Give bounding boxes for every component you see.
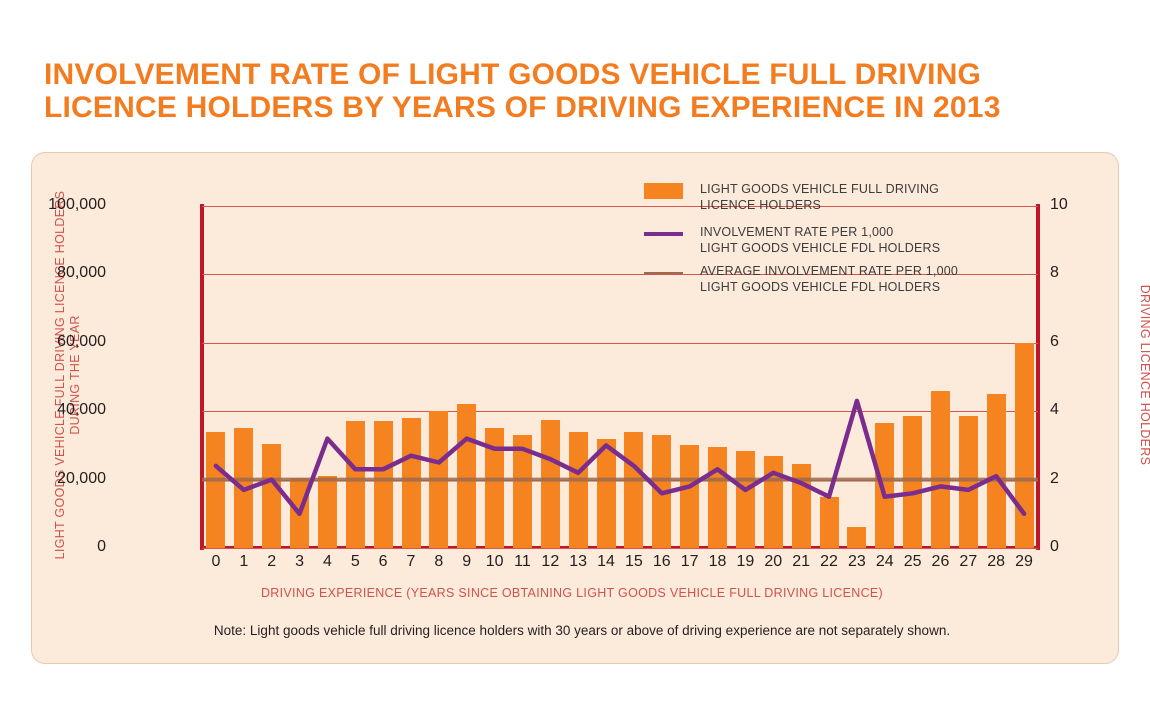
x-axis-tick-label: 18 bbox=[703, 553, 733, 571]
x-axis-tick-label: 28 bbox=[981, 553, 1011, 571]
chart-note: Note: Light goods vehicle full driving l… bbox=[92, 623, 1072, 638]
legend-item: INVOLVEMENT RATE PER 1,000LIGHT GOODS VE… bbox=[644, 224, 964, 256]
legend-swatch-bar-icon bbox=[644, 183, 683, 199]
x-axis-tick-label: 6 bbox=[368, 553, 398, 571]
x-axis-tick-label: 23 bbox=[842, 553, 872, 571]
x-axis-tick-label: 9 bbox=[452, 553, 482, 571]
page-title-line-2: LICENCE HOLDERS BY YEARS OF DRIVING EXPE… bbox=[44, 91, 1104, 124]
page-title-line-1: INVOLVEMENT RATE OF LIGHT GOODS VEHICLE … bbox=[44, 58, 1104, 91]
x-axis-tick-label: 1 bbox=[229, 553, 259, 571]
legend-label-line-2: LIGHT GOODS VEHICLE FDL HOLDERS bbox=[700, 240, 964, 256]
legend-item: AVERAGE INVOLVEMENT RATE PER 1,000LIGHT … bbox=[644, 263, 964, 295]
legend-swatch-average-icon bbox=[644, 272, 683, 274]
x-axis-tick-label: 4 bbox=[312, 553, 342, 571]
x-axis-tick-label: 17 bbox=[675, 553, 705, 571]
x-axis-tick-label: 8 bbox=[424, 553, 454, 571]
legend-label-line-1: AVERAGE INVOLVEMENT RATE PER 1,000 bbox=[700, 263, 964, 279]
x-axis-tick-label: 12 bbox=[535, 553, 565, 571]
x-axis-tick-label: 25 bbox=[898, 553, 928, 571]
x-axis-title: DRIVING EXPERIENCE (YEARS SINCE OBTAININ… bbox=[162, 586, 982, 601]
chart-panel: LIGHT GOODS VEHICLE FULL DRIVING LICENCE… bbox=[31, 152, 1119, 664]
x-axis-tick-label: 26 bbox=[925, 553, 955, 571]
y-axis-left-tick-label: 100,000 bbox=[48, 196, 106, 214]
y-axis-left-tick-label: 40,000 bbox=[57, 401, 106, 419]
y-axis-right-tick-label: 8 bbox=[1050, 264, 1059, 282]
x-axis-tick-label: 29 bbox=[1009, 553, 1039, 571]
legend-label: LIGHT GOODS VEHICLE FULL DRIVINGLICENCE … bbox=[700, 181, 964, 213]
x-axis-tick-label: 15 bbox=[619, 553, 649, 571]
x-axis-tick-label: 14 bbox=[591, 553, 621, 571]
y-axis-left-tick-label: 60,000 bbox=[57, 333, 106, 351]
y-axis-left-tick-label: 20,000 bbox=[57, 470, 106, 488]
legend-label-line-2: LICENCE HOLDERS bbox=[700, 197, 964, 213]
y-axis-right-tick-label: 10 bbox=[1050, 196, 1068, 214]
legend-swatch-line-icon bbox=[644, 232, 683, 236]
x-axis-tick-label: 22 bbox=[814, 553, 844, 571]
legend-label: AVERAGE INVOLVEMENT RATE PER 1,000LIGHT … bbox=[700, 263, 964, 295]
y-axis-right-tick-label: 0 bbox=[1050, 538, 1059, 556]
x-axis-tick-label: 19 bbox=[730, 553, 760, 571]
x-axis-tick-label: 10 bbox=[480, 553, 510, 571]
y-axis-right-title: INVOLVEMENTS PER 1,000 LIGHT GOODS VEHIC… bbox=[1133, 175, 1150, 575]
chart-page: INVOLVEMENT RATE OF LIGHT GOODS VEHICLE … bbox=[0, 0, 1150, 706]
y-axis-left-tick-label: 80,000 bbox=[57, 264, 106, 282]
x-axis-tick-label: 27 bbox=[953, 553, 983, 571]
page-title: INVOLVEMENT RATE OF LIGHT GOODS VEHICLE … bbox=[44, 58, 1104, 124]
legend: LIGHT GOODS VEHICLE FULL DRIVINGLICENCE … bbox=[644, 181, 964, 306]
involvement-rate-line bbox=[216, 401, 1024, 514]
legend-item: LIGHT GOODS VEHICLE FULL DRIVINGLICENCE … bbox=[644, 181, 964, 213]
y-axis-right-tick-label: 2 bbox=[1050, 470, 1059, 488]
x-axis-tick-label: 20 bbox=[758, 553, 788, 571]
y-axis-right-tick-label: 6 bbox=[1050, 333, 1059, 351]
x-axis-tick-label: 13 bbox=[563, 553, 593, 571]
x-axis-tick-label: 16 bbox=[647, 553, 677, 571]
x-axis-tick-label: 21 bbox=[786, 553, 816, 571]
x-axis-tick-label: 0 bbox=[201, 553, 231, 571]
legend-label-line-2: LIGHT GOODS VEHICLE FDL HOLDERS bbox=[700, 279, 964, 295]
x-axis-tick-label: 7 bbox=[396, 553, 426, 571]
y-axis-left-title: LIGHT GOODS VEHICLE FULL DRIVING LICENCE… bbox=[53, 175, 87, 575]
legend-label: INVOLVEMENT RATE PER 1,000LIGHT GOODS VE… bbox=[700, 224, 964, 256]
x-axis-tick-label: 3 bbox=[285, 553, 315, 571]
x-axis-tick-label: 24 bbox=[870, 553, 900, 571]
x-axis-tick-label: 2 bbox=[257, 553, 287, 571]
legend-label-line-1: LIGHT GOODS VEHICLE FULL DRIVING bbox=[700, 181, 964, 197]
gridline bbox=[202, 548, 1038, 549]
y-axis-left-tick-label: 0 bbox=[97, 538, 106, 556]
x-axis-tick-label: 11 bbox=[507, 553, 537, 571]
y-axis-right-tick-label: 4 bbox=[1050, 401, 1059, 419]
x-axis-tick-label: 5 bbox=[340, 553, 370, 571]
legend-label-line-1: INVOLVEMENT RATE PER 1,000 bbox=[700, 224, 964, 240]
